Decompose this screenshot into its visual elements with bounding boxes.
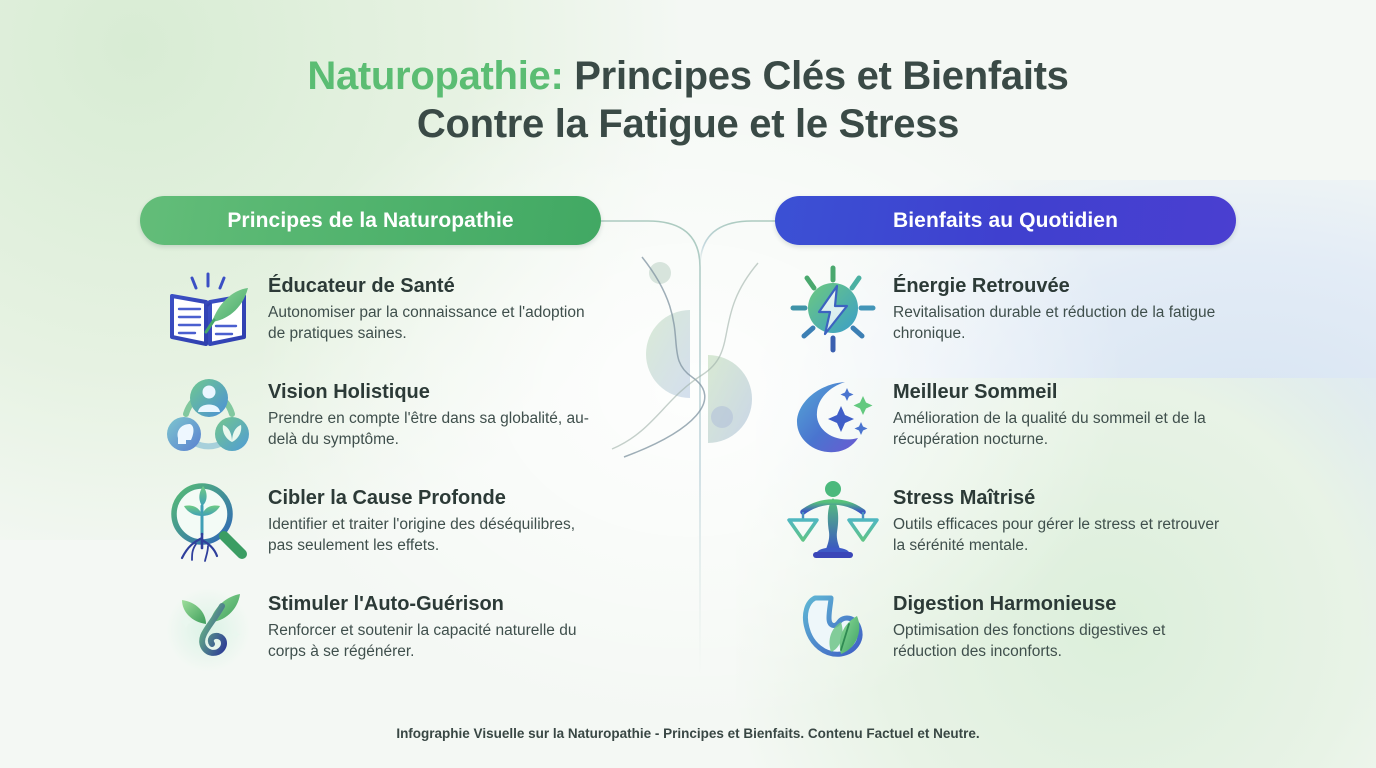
list-item[interactable]: Vision Holistique Prendre en compte l'êt… bbox=[160, 368, 630, 474]
list-item-description: Prendre en compte l'être dans sa globali… bbox=[268, 408, 598, 450]
list-item-title: Digestion Harmonieuse bbox=[893, 592, 1223, 616]
column-header-principes-label: Principes de la Naturopathie bbox=[227, 209, 513, 233]
page-title-line-2: Contre la Fatigue et le Stress bbox=[0, 100, 1376, 148]
list-item-description: Optimisation des fonctions digestives et… bbox=[893, 620, 1223, 662]
list-item-description: Identifier et traiter l'origine des désé… bbox=[268, 514, 598, 556]
list-item-title: Stimuler l'Auto-Guérison bbox=[268, 592, 598, 616]
column-header-principes[interactable]: Principes de la Naturopathie bbox=[140, 196, 601, 245]
list-item-title: Vision Holistique bbox=[268, 380, 598, 404]
list-item-title: Meilleur Sommeil bbox=[893, 380, 1223, 404]
list-item-description: Renforcer et soutenir la capacité nature… bbox=[268, 620, 598, 662]
list-item-text: Meilleur Sommeil Amélioration de la qual… bbox=[881, 368, 1223, 450]
list-item-title: Énergie Retrouvée bbox=[893, 274, 1223, 298]
list-item[interactable]: Éducateur de Santé Autonomiser par la co… bbox=[160, 262, 630, 368]
footer-caption: Infographie Visuelle sur la Naturopathie… bbox=[0, 726, 1376, 741]
list-item[interactable]: Digestion Harmonieuse Optimisation des f… bbox=[785, 580, 1255, 686]
list-item-text: Cibler la Cause Profonde Identifier et t… bbox=[256, 474, 598, 556]
list-item-title: Stress Maîtrisé bbox=[893, 486, 1223, 510]
list-item-description: Autonomiser par la connaissance et l'ado… bbox=[268, 302, 598, 344]
page-title-accent: Naturopathie: bbox=[307, 54, 563, 98]
page-title-rest: Principes Clés et Bienfaits bbox=[563, 54, 1068, 98]
principes-list: Éducateur de Santé Autonomiser par la co… bbox=[160, 262, 630, 686]
list-item-text: Stress Maîtrisé Outils efficaces pour gé… bbox=[881, 474, 1223, 556]
list-item[interactable]: Cibler la Cause Profonde Identifier et t… bbox=[160, 474, 630, 580]
stomach-leaf-icon bbox=[785, 580, 881, 676]
magnifier-plant-roots-icon bbox=[160, 474, 256, 570]
column-header-bienfaits[interactable]: Bienfaits au Quotidien bbox=[775, 196, 1236, 245]
sun-lightning-bolt-icon bbox=[785, 262, 881, 358]
list-item-description: Amélioration de la qualité du sommeil et… bbox=[893, 408, 1223, 450]
list-item-text: Vision Holistique Prendre en compte l'êt… bbox=[256, 368, 598, 450]
list-item-text: Stimuler l'Auto-Guérison Renforcer et so… bbox=[256, 580, 598, 662]
open-book-leaf-pen-icon bbox=[160, 262, 256, 358]
list-item[interactable]: Meilleur Sommeil Amélioration de la qual… bbox=[785, 368, 1255, 474]
list-item-title: Éducateur de Santé bbox=[268, 274, 598, 298]
infographic-stage: Naturopathie: Principes Clés et Bienfait… bbox=[0, 0, 1376, 768]
bienfaits-list: Énergie Retrouvée Revitalisation durable… bbox=[785, 262, 1255, 686]
page-title: Naturopathie: Principes Clés et Bienfait… bbox=[0, 52, 1376, 148]
list-item-text: Digestion Harmonieuse Optimisation des f… bbox=[881, 580, 1223, 662]
list-item-text: Éducateur de Santé Autonomiser par la co… bbox=[256, 262, 598, 344]
list-item-description: Revitalisation durable et réduction de l… bbox=[893, 302, 1223, 344]
list-item-title: Cibler la Cause Profonde bbox=[268, 486, 598, 510]
list-item[interactable]: Énergie Retrouvée Revitalisation durable… bbox=[785, 262, 1255, 368]
column-header-bienfaits-label: Bienfaits au Quotidien bbox=[893, 209, 1118, 233]
list-item[interactable]: Stress Maîtrisé Outils efficaces pour gé… bbox=[785, 474, 1255, 580]
list-item-text: Énergie Retrouvée Revitalisation durable… bbox=[881, 262, 1223, 344]
list-item[interactable]: Stimuler l'Auto-Guérison Renforcer et so… bbox=[160, 580, 630, 686]
spiral-sprout-icon bbox=[160, 580, 256, 676]
page-title-line-1: Naturopathie: Principes Clés et Bienfait… bbox=[0, 52, 1376, 100]
list-item-description: Outils efficaces pour gérer le stress et… bbox=[893, 514, 1223, 556]
balance-scale-figure-icon bbox=[785, 474, 881, 570]
three-circles-holistic-icon bbox=[160, 368, 256, 464]
crescent-moon-stars-icon bbox=[785, 368, 881, 464]
